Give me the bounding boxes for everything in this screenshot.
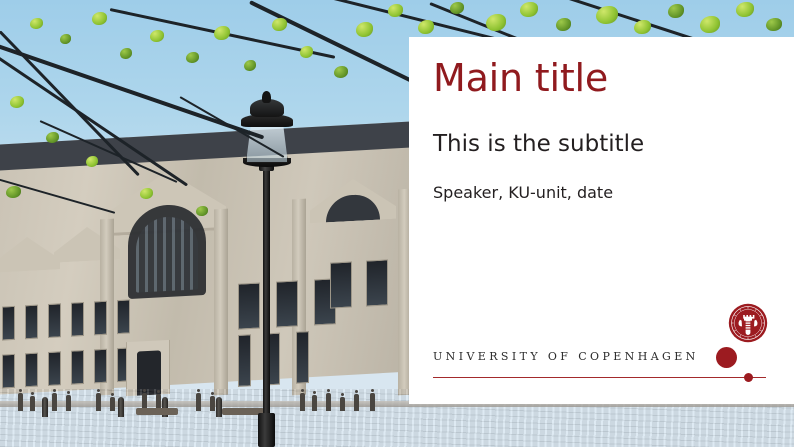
arched-window: [128, 203, 206, 299]
window-row: [2, 347, 130, 388]
bollard: [42, 397, 48, 417]
window-row: [330, 259, 388, 308]
decorative-dot-large: [716, 347, 737, 368]
pilaster: [214, 209, 228, 396]
presentation-slide: Main title This is the subtitle Speaker,…: [0, 0, 794, 447]
bench: [136, 408, 178, 415]
bollard: [118, 397, 124, 417]
window-row: [2, 299, 130, 340]
footer-rule: [433, 377, 766, 378]
lamppost: [258, 77, 274, 447]
speaker-byline: Speaker, KU-unit, date: [433, 185, 613, 201]
title-panel: Main title This is the subtitle Speaker,…: [409, 37, 794, 404]
bollard: [216, 397, 222, 417]
page-subtitle: This is the subtitle: [433, 133, 644, 156]
ku-seal-logo: [728, 303, 768, 343]
university-wordmark: UNIVERSITY OF COPENHAGEN: [433, 350, 699, 363]
window-row: [238, 278, 336, 329]
page-title: Main title: [433, 59, 608, 97]
decorative-dot-small: [744, 373, 753, 382]
